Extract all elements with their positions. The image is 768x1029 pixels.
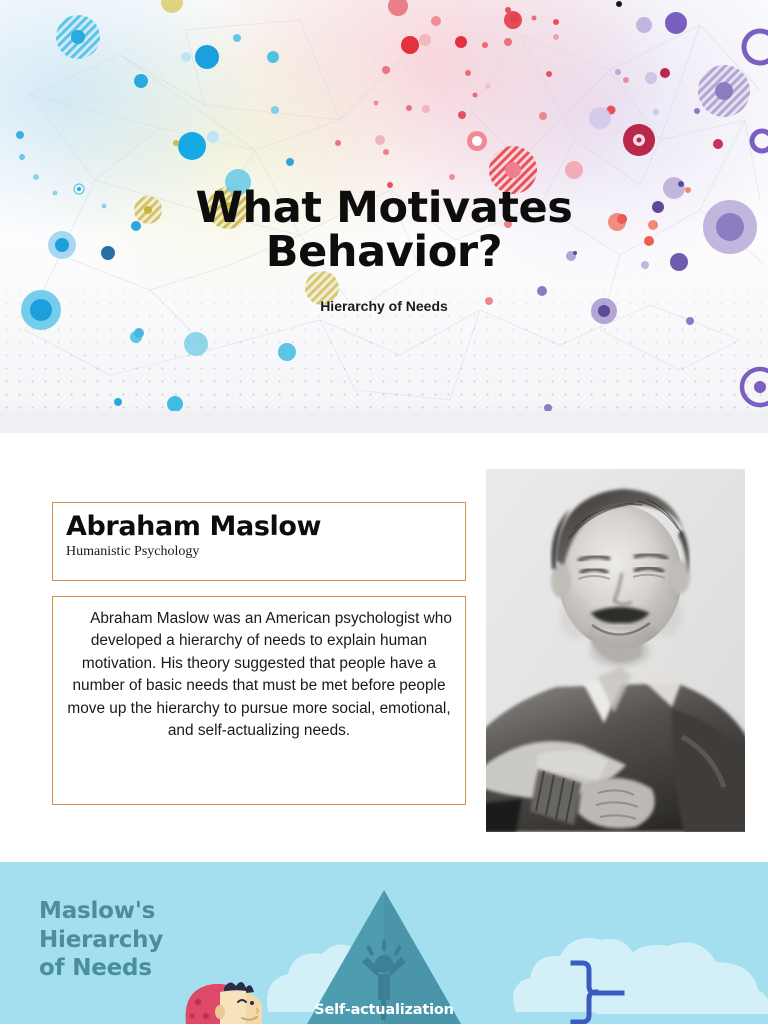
profile-description-card: Abraham Maslow was an American psycholog… <box>52 596 466 805</box>
hero-bottom-band <box>0 411 768 433</box>
profile-field: Humanistic Psychology <box>66 544 465 561</box>
page-title: What Motivates Behavior? <box>0 186 768 275</box>
profile-name: Abraham Maslow <box>66 512 465 542</box>
page-title-line-1: What Motivates <box>0 186 768 230</box>
portrait-image <box>486 469 745 832</box>
maslow-portrait-photo <box>486 469 745 832</box>
character-graphic <box>176 972 296 1024</box>
maslow-hierarchy-banner: Maslow's Hierarchy of Needs Self-actuali… <box>0 862 768 1024</box>
page-subtitle: Hierarchy of Needs <box>0 298 768 314</box>
cartoon-character-illustration <box>176 972 296 1024</box>
banner-heading: Maslow's Hierarchy of Needs <box>39 897 163 983</box>
profile-description-text: Abraham Maslow was an American psycholog… <box>65 608 453 743</box>
page-title-line-2: Behavior? <box>0 230 768 274</box>
profile-section: Abraham Maslow Humanistic Psychology Abr… <box>0 433 768 862</box>
profile-name-card: Abraham Maslow Humanistic Psychology <box>52 502 466 581</box>
pyramid-top-tier-label: Self-actualization <box>0 1002 768 1018</box>
hero-dot-grid <box>0 258 768 433</box>
title-slide-hero: What Motivates Behavior? Hierarchy of Ne… <box>0 0 768 433</box>
